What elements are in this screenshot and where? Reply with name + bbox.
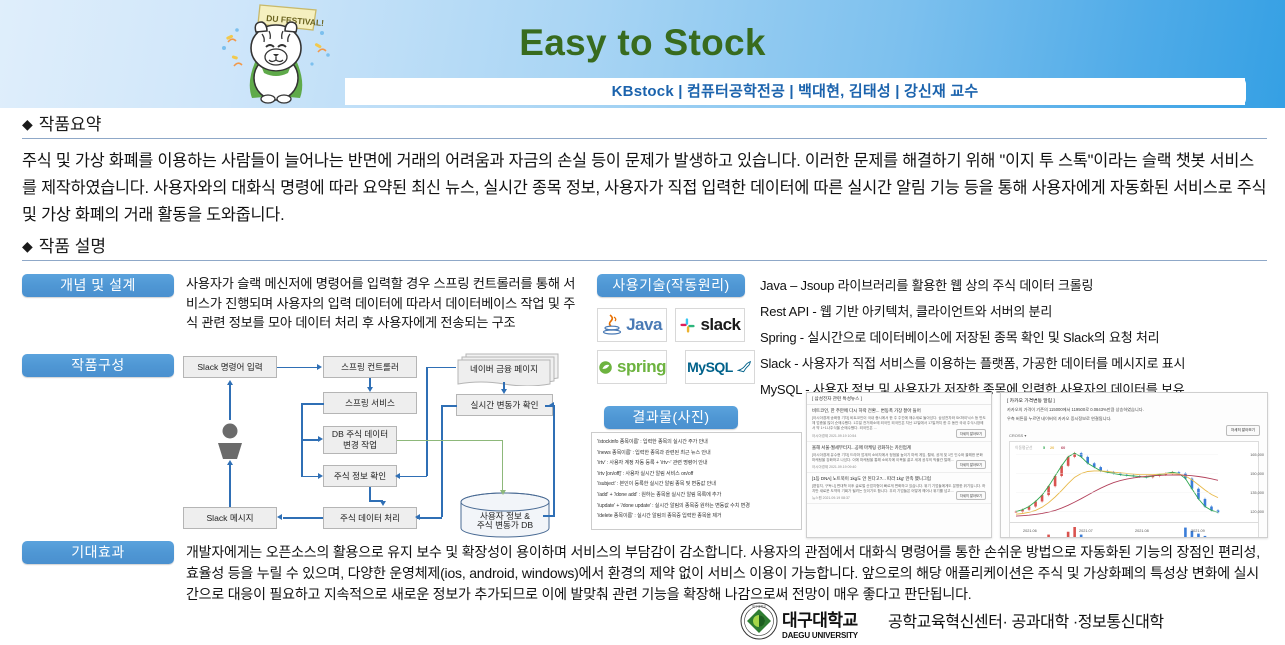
x-tick: 2021.09 [1191, 529, 1205, 533]
effects-text: 개발자에게는 오픈소스의 활용으로 유지 보수 및 확장성이 용이하며 서비스의… [186, 542, 1267, 605]
command-line: '/add' + '/done add' : 원하는 종목을 실시간 알림 목록… [597, 490, 796, 501]
x-tick: 2021.06 [1023, 529, 1037, 533]
poster-root: DU FESTIVAL! [0, 0, 1285, 643]
arrow-left-2 [415, 514, 420, 520]
arrow-up-2 [227, 460, 233, 465]
price-chart-svg [1010, 442, 1260, 524]
command-line: '/rtv' : 사용자 계정 자동 등록 + '/rtv~' 관련 명령어 안… [597, 458, 796, 469]
news-detail-button[interactable]: 자세히 알아보기 [956, 491, 986, 500]
node-spring-service: 스프링 서비스 [323, 392, 417, 414]
y-tick: 120,000 [1250, 510, 1264, 514]
command-line: '/stockinfo 종목이름' : 입력한 종목의 실시간 주가 안내 [597, 437, 796, 448]
news-headline: 올해 서울-월세부터지...공매 마케팅 강화하는 카인업계 [812, 445, 986, 451]
chart-legend-20: 20 [1050, 446, 1054, 450]
slack-label: slack [700, 315, 740, 335]
news-item: [1등 DNA] 노트북이 1kg도 안 된다고?... 따라 1kg' 만족 … [807, 473, 991, 504]
chart-dropdown[interactable]: CROSS ▾ [1009, 433, 1026, 438]
chart-legend-5: 5 [1043, 446, 1045, 450]
arrow-down-green [500, 490, 506, 495]
diamond-icon: ◆ [22, 116, 33, 132]
y-tick: 165,000 [1250, 453, 1264, 457]
edge-controller-to-naver [426, 367, 456, 369]
command-line: '/rtv [on/off]' : 사용자 실시간 알림 서비스 on/off [597, 469, 796, 480]
arrow-left-4 [549, 402, 554, 408]
node-realtime-check: 실시간 변동가 확인 [456, 394, 553, 416]
arrow-left-3 [277, 514, 282, 520]
label-concept-design: 개념 및 설계 [22, 274, 174, 297]
label-composition: 작품구성 [22, 354, 174, 377]
volume-chart-plot [1009, 523, 1259, 538]
logo-mysql: MySQL [685, 350, 755, 384]
arrow-right-2 [318, 436, 323, 442]
node-db-update: DB 주식 데이터 변경 작업 [323, 426, 397, 454]
section-rule-description [22, 260, 1267, 261]
tech-line-1: Java – Jsoup 라이브러리를 활용한 웹 상의 주식 데이터 크롤링 [760, 275, 1093, 294]
chart-shot-line2: 우측 버튼을 누르면 네이버의 카카오 증시정보로 연결됩니다. [1001, 414, 1267, 423]
news-detail-button[interactable]: 자세히 알아보기 [956, 429, 986, 438]
x-tick: 2021.08 [1135, 529, 1149, 533]
java-icon [602, 313, 622, 337]
logo-spring: spring [597, 350, 667, 384]
news-detail-button[interactable]: 자세히 알아보기 [956, 460, 986, 469]
edge-controller-to-service [369, 378, 371, 387]
node-stock-info: 주식 정보 확인 [323, 465, 397, 487]
chart-shot-title: [ 카카오 가격변동 알림 ] [1001, 393, 1267, 405]
dolphin-icon [737, 360, 753, 374]
edge-realtime-bus [441, 405, 443, 517]
edge-dbupdate-green [397, 440, 503, 441]
edge-service-bus-top [301, 403, 324, 405]
logo-java: Java [597, 308, 667, 342]
edge-bus-to-stockinfo [301, 476, 319, 478]
java-label: Java [626, 315, 662, 335]
diamond-icon-2: ◆ [22, 238, 33, 254]
summary-text: 주식 및 가상 화폐를 이용하는 사람들이 늘어나는 반면에 거래의 어려움과 … [22, 148, 1267, 229]
node-stock-data-process: 주식 데이터 처리 [323, 507, 417, 529]
spring-icon [598, 359, 613, 376]
command-line: '/news 종목이름' : 입력한 종목과 관련된 최근 뉴스 안내 [597, 448, 796, 459]
tech-line-2: Rest API - 웹 기반 아키텍처, 클라이언트와 서버의 분리 [760, 301, 1052, 320]
arrow-down-3 [380, 501, 386, 506]
subtitle-text: KBstock | 컴퓨터공학전공 | 백대현, 김태성 | 강신재 교수 [345, 78, 1245, 105]
architecture-diagram: 네이버 금융 페이지 Slack 명령어 입력 스프링 컨트롤러 스프링 서비스… [183, 352, 583, 542]
edge-person-to-slack [229, 385, 231, 420]
edge-slack-to-controller [277, 367, 317, 369]
node-spring-controller: 스프링 컨트롤러 [323, 356, 417, 378]
tech-line-4: Slack - 사용자가 직접 서비스를 이용하는 플랫폼, 가공한 데이터를 … [760, 353, 1185, 372]
screenshot-news-feed: [ 삼성전자 관련 특성뉴스 ] 비트코인, 한 주만에 다시 하락 전환...… [806, 392, 992, 538]
news-shot-title: [ 삼성전자 관련 특성뉴스 ] [807, 393, 991, 405]
edge-green-down [502, 440, 503, 492]
arrow-down-1 [367, 387, 373, 392]
footer: 대구대학교 대구대학교 DAEGU UNIVERSITY 공학교육혁신센터· 공… [740, 600, 1285, 643]
concept-text: 사용자가 슬랙 메신저에 명령어를 입력할 경우 스프링 컨트롤러를 통해 서비… [186, 274, 584, 333]
y-tick: 150,000 [1250, 472, 1264, 476]
footer-departments: 공학교육혁신센터· 공과대학 ·정보통신대학 [888, 614, 1164, 631]
arrow-left-1 [395, 473, 400, 479]
section-rule-summary [22, 138, 1267, 139]
arrow-right-1 [317, 364, 322, 370]
arrow-right-3 [318, 473, 323, 479]
chart-shot-line1: 카카오의 가격이 기존의 115000에서 119500로 0.0843%만큼 … [1001, 405, 1267, 414]
screenshot-stock-chart: [ 카카오 가격변동 알림 ] 카카오의 가격이 기존의 115000에서 11… [1000, 392, 1268, 538]
arrow-down-2 [501, 389, 507, 394]
edge-realtime-left [441, 405, 457, 407]
edge-db-to-realtime [553, 405, 555, 515]
tech-line-3: Spring - 실시간으로 데이터베이스에 저장된 종목 확인 및 Slack… [760, 327, 1159, 346]
x-tick: 2021.07 [1079, 529, 1093, 533]
edge-bus-to-stockinfo-2 [397, 476, 427, 478]
news-item: 올해 서울-월세부터지...공매 마케팅 강화하는 카인업계 [아시아경제 유수… [807, 442, 991, 473]
arrow-up-1 [227, 380, 233, 385]
edge-message-to-person [229, 465, 231, 507]
label-technology: 사용기술(작동원리) [597, 274, 745, 297]
chart-legend-60: 60 [1061, 446, 1065, 450]
command-list-card: '/stockinfo 종목이름' : 입력한 종목의 실시간 주가 안내 '/… [591, 432, 802, 530]
news-headline: [1등 DNA] 노트북이 1kg도 안 된다고?... 따라 1kg' 만족 … [812, 476, 986, 482]
daegu-university-logo-icon: 대구대학교 [740, 602, 778, 645]
mysql-label: MySQL [687, 359, 733, 375]
node-slack-input: Slack 명령어 입력 [183, 356, 277, 378]
page-title: Easy to Stock [0, 22, 1285, 64]
news-headline: 비트코인, 한 주만에 다시 하락 전환... 변동폭 가장 잘아 들어 [812, 408, 986, 414]
slack-icon [679, 317, 696, 334]
section-heading-summary: ◆작품요약 [22, 110, 101, 135]
edge-controller-right-bus [426, 367, 428, 476]
svg-text:대구대학교: 대구대학교 [752, 604, 766, 609]
poster-header: DU FESTIVAL! [0, 0, 1285, 108]
edge-db-right [543, 515, 555, 517]
node-database: 사용자 정보 & 주식 변동가 DB [463, 511, 547, 531]
edge-stockinfo-down [369, 487, 371, 501]
command-line: '/delete 종목이름' : 실시간 알림의 종목중 입력한 종목을 제거 [597, 511, 796, 522]
edge-bus-to-db [301, 439, 319, 441]
section-heading-description: ◆작품 설명 [22, 232, 106, 257]
node-naver-finance: 네이버 금융 페이지 [462, 361, 546, 378]
news-item: 비트코인, 한 주만에 다시 하락 전환... 변동폭 가장 잘아 들어 [아시… [807, 405, 991, 442]
node-slack-message: Slack 메시지 [183, 507, 277, 529]
y-tick: 135,000 [1250, 491, 1264, 495]
chart-detail-button[interactable]: 자세히 알아보기 [1226, 425, 1260, 436]
subtitle-bar: KBstock | 컴퓨터공학전공 | 백대현, 김태성 | 강신재 교수 [345, 78, 1245, 105]
edge-bus-to-process [417, 517, 442, 519]
price-chart-plot [1009, 441, 1259, 523]
footer-university-en: DAEGU UNIVERSITY [782, 631, 858, 640]
chart-legend-label: 이동평균선 [1015, 446, 1032, 451]
edge-process-to-message [283, 517, 323, 519]
spring-label: spring [617, 357, 666, 377]
command-line: '/subject' : 본인이 등록한 실시간 알림 종목 및 변동값 안내 [597, 479, 796, 490]
command-line: '/update' + '/done update' : 실시간 알림의 종목중… [597, 501, 796, 512]
label-results: 결과물(사진) [604, 406, 738, 429]
label-effects: 기대효과 [22, 541, 174, 564]
logo-slack: slack [675, 308, 745, 342]
